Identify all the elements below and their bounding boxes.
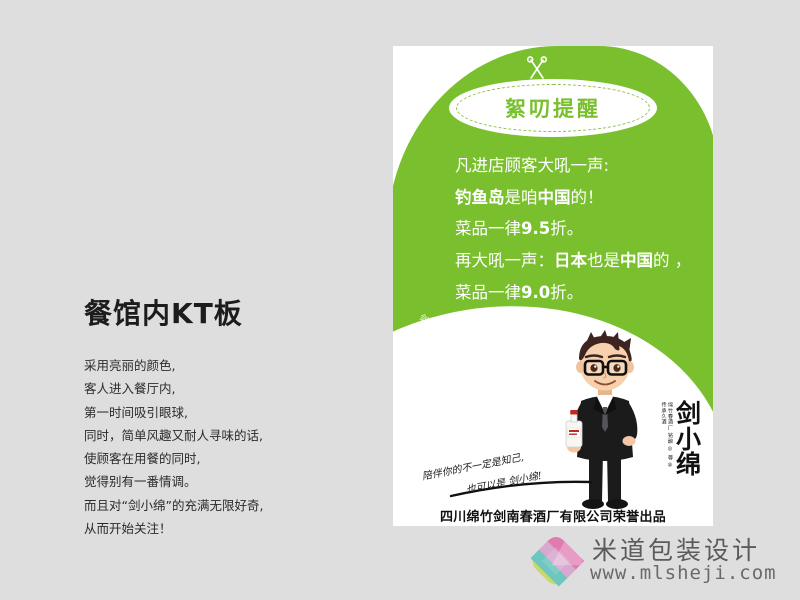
brand-char: 小 — [676, 427, 701, 453]
slogan-block: 凡进店顾客大吼一声: 钓鱼岛是咱中国的！ 菜品一律9.5折。 再大吼一声：日本也… — [455, 150, 705, 308]
slogan-line: 菜品一律9.0折。 — [455, 277, 705, 309]
brand-char: 绵 — [676, 452, 701, 478]
screenshot-canvas: 餐馆内KT板 采用亮丽的颜色, 客人进入餐厅内, 第一时间吸引眼球, 同时，简单… — [0, 0, 800, 600]
description-line: 第一时间吸引眼球, — [84, 401, 374, 424]
midao-logo — [528, 533, 584, 589]
slogan-line: 钓鱼岛是咱中国的！ — [455, 182, 705, 214]
page-title: 餐馆内KT板 — [84, 300, 374, 328]
handwriting-block: 陪伴你的不一定是知己, 也可以是 剑小绵! — [413, 456, 623, 504]
description-text: 采用亮丽的颜色, 客人进入餐厅内, 第一时间吸引眼球, 同时，简单风趣又耐人寻味… — [84, 354, 374, 540]
slogan-line: 凡进店顾客大吼一声: — [455, 150, 705, 182]
brand-char: 剑 — [676, 401, 701, 427]
description-line: 同时，简单风趣又耐人寻味的话, — [84, 424, 374, 447]
description-line: 觉得别有一番情调。 — [84, 470, 374, 493]
handwriting-underline — [413, 456, 613, 502]
description-line: 采用亮丽的颜色, — [84, 354, 374, 377]
watermark-url: www.mlsheji.com — [590, 562, 777, 584]
brand-name-vertical: 剑 小 绵 — [676, 401, 701, 478]
poster-artwork: 絮叨提醒 凡进店顾客大吼一声: 钓鱼岛是咱中国的！ 菜品一律9.5折。 再大吼一… — [393, 46, 713, 526]
brand-side-text: 绵竹春酒厂 铭酿 ◎ 尊 ⑩ 传承久酒 — [660, 402, 673, 476]
header-badge: 絮叨提醒 — [449, 79, 657, 137]
description-line: 客人进入餐厅内, — [84, 377, 374, 400]
description-line: 从而开始关注！ — [84, 517, 374, 540]
company-line: 四川绵竹剑南春酒厂有限公司荣誉出品 — [393, 506, 713, 525]
description-line: 使顾客在用餐的同时, — [84, 447, 374, 470]
slogan-line: 菜品一律9.5折。 — [455, 213, 705, 245]
slogan-line: 再大吼一声：日本也是中国的 ， — [455, 245, 705, 277]
description-line: 而且对“剑小绵”的充满无限好奇, — [84, 494, 374, 517]
header-badge-label: 絮叨提醒 — [505, 93, 601, 123]
watermark: 米道包装设计 www.mlsheji.com — [528, 531, 792, 593]
left-description-panel: 餐馆内KT板 采用亮丽的颜色, 客人进入餐厅内, 第一时间吸引眼球, 同时，简单… — [84, 300, 374, 540]
